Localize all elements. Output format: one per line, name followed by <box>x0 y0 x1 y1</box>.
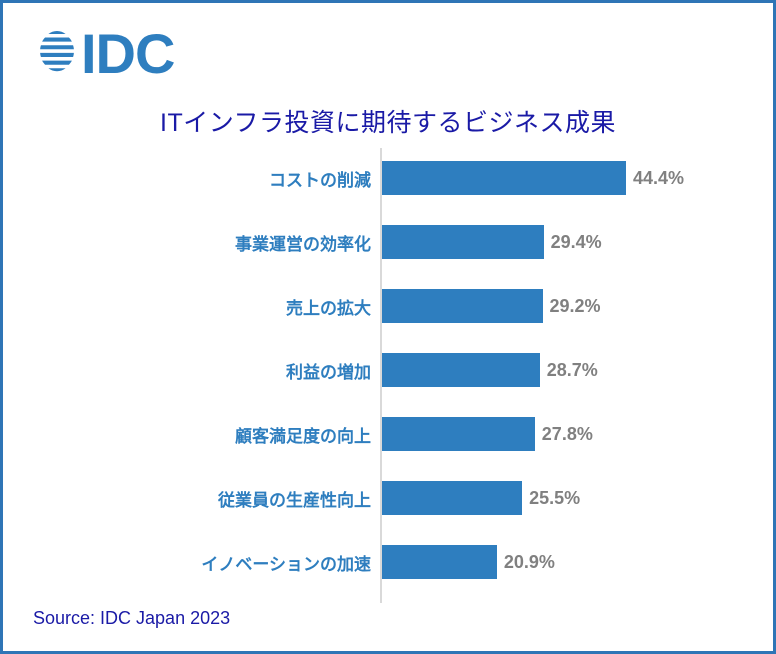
chart-title: ITインフラ投資に期待するビジネス成果 <box>3 103 773 139</box>
category-label: 従業員の生産性向上 <box>33 486 371 511</box>
bar-and-value: 29.2% <box>382 289 601 323</box>
bar-and-value: 28.7% <box>382 353 598 387</box>
bar-rows: コストの削減44.4%事業運営の効率化29.4%売上の拡大29.2%利益の増加2… <box>33 146 743 594</box>
bar-row: 売上の拡大29.2% <box>33 274 743 338</box>
bar-row: 従業員の生産性向上25.5% <box>33 466 743 530</box>
bar-row: 顧客満足度の向上27.8% <box>33 402 743 466</box>
bar <box>382 545 497 579</box>
bar <box>382 481 522 515</box>
chart-canvas: IDC ITインフラ投資に期待するビジネス成果 コストの削減44.4%事業運営の… <box>0 0 776 654</box>
plot-area: コストの削減44.4%事業運営の効率化29.4%売上の拡大29.2%利益の増加2… <box>33 146 743 604</box>
source-note: Source: IDC Japan 2023 <box>33 608 230 629</box>
bar-value-label: 20.9% <box>504 552 555 573</box>
category-label: 売上の拡大 <box>33 294 371 319</box>
bar-value-label: 29.2% <box>550 296 601 317</box>
bar-and-value: 27.8% <box>382 417 593 451</box>
idc-logo: IDC <box>31 25 174 83</box>
category-label: コストの削減 <box>33 166 371 191</box>
bar <box>382 225 544 259</box>
idc-globe-icon <box>31 28 83 80</box>
bar-and-value: 25.5% <box>382 481 580 515</box>
bar <box>382 353 540 387</box>
bar-value-label: 29.4% <box>551 232 602 253</box>
bar-row: コストの削減44.4% <box>33 146 743 210</box>
bar-and-value: 44.4% <box>382 161 684 195</box>
bar-value-label: 25.5% <box>529 488 580 509</box>
bar <box>382 289 543 323</box>
bar <box>382 417 535 451</box>
category-label: 顧客満足度の向上 <box>33 422 371 447</box>
bar-and-value: 20.9% <box>382 545 555 579</box>
bar-value-label: 28.7% <box>547 360 598 381</box>
category-label: 利益の増加 <box>33 358 371 383</box>
bar <box>382 161 626 195</box>
category-label: イノベーションの加速 <box>33 550 371 575</box>
bar-value-label: 44.4% <box>633 168 684 189</box>
category-label: 事業運営の効率化 <box>33 230 371 255</box>
bar-row: 事業運営の効率化29.4% <box>33 210 743 274</box>
bar-row: イノベーションの加速20.9% <box>33 530 743 594</box>
idc-logo-text: IDC <box>81 28 174 80</box>
bar-value-label: 27.8% <box>542 424 593 445</box>
bar-row: 利益の増加28.7% <box>33 338 743 402</box>
bar-and-value: 29.4% <box>382 225 602 259</box>
